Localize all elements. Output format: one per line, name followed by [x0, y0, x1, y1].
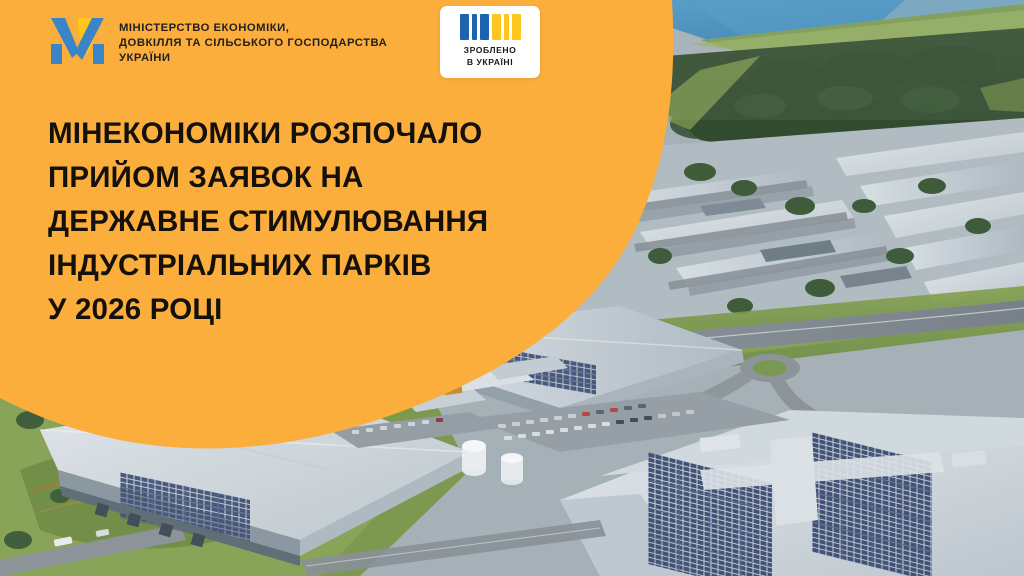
poster-header: МІНІСТЕРСТВО ЕКОНОМІКИ, ДОВКІЛЛЯ ТА СІЛЬ…	[0, 0, 700, 92]
badge-caption-line-2: В УКРАЇНІ	[467, 57, 513, 68]
ministry-name-line-3: УКРАЇНИ	[119, 52, 387, 65]
made-in-ukraine-badge-icon: ЗРОБЛЕНО В УКРАЇНІ	[440, 6, 540, 78]
headline-line-5: У 2026 РОЦІ	[48, 288, 608, 332]
badge-bar-6	[512, 14, 521, 40]
poster-canvas: МІНІСТЕРСТВО ЕКОНОМІКИ, ДОВКІЛЛЯ ТА СІЛЬ…	[0, 0, 1024, 576]
ministry-m-monogram-icon	[48, 14, 106, 70]
badge-bar-3	[480, 14, 489, 40]
headline-line-1: МІНЕКОНОМІКИ РОЗПОЧАЛО	[48, 112, 608, 156]
ministry-name: МІНІСТЕРСТВО ЕКОНОМІКИ, ДОВКІЛЛЯ ТА СІЛЬ…	[119, 14, 387, 66]
badge-bar-4	[492, 14, 501, 40]
ministry-name-line-2: ДОВКІЛЛЯ ТА СІЛЬСЬКОГО ГОСПОДАРСТВА	[119, 37, 387, 50]
ministry-name-line-1: МІНІСТЕРСТВО ЕКОНОМІКИ,	[119, 22, 387, 35]
headline: МІНЕКОНОМІКИ РОЗПОЧАЛО ПРИЙОМ ЗАЯВОК НА …	[48, 112, 608, 332]
badge-bar-5	[504, 14, 509, 40]
badge-bar-1	[460, 14, 469, 40]
badge-caption: ЗРОБЛЕНО В УКРАЇНІ	[464, 45, 517, 67]
ministry-branding: МІНІСТЕРСТВО ЕКОНОМІКИ, ДОВКІЛЛЯ ТА СІЛЬ…	[48, 14, 387, 70]
headline-line-4: ІНДУСТРІАЛЬНИХ ПАРКІВ	[48, 244, 608, 288]
badge-bar-2	[472, 14, 477, 40]
badge-flag-bars	[460, 14, 521, 40]
headline-line-2: ПРИЙОМ ЗАЯВОК НА	[48, 156, 608, 200]
headline-line-3: ДЕРЖАВНЕ СТИМУЛЮВАННЯ	[48, 200, 608, 244]
badge-caption-line-1: ЗРОБЛЕНО	[464, 45, 517, 56]
